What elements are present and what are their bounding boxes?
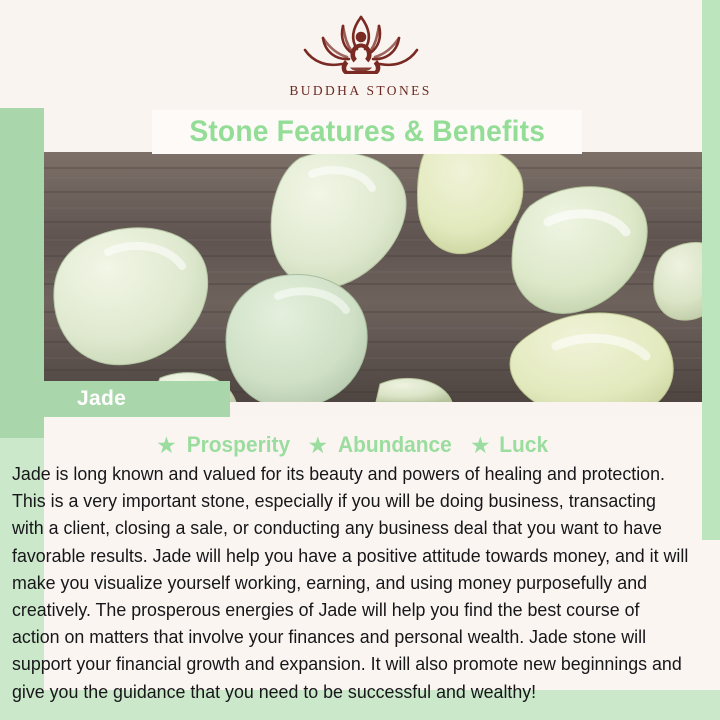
poster: BUDDHA STONES: [0, 0, 720, 720]
brand-name: BUDDHA STONES: [289, 83, 431, 99]
stone-name-label: Jade: [25, 387, 126, 411]
brand-header: BUDDHA STONES: [0, 0, 705, 108]
stone-description: Jade is long known and valued for its be…: [12, 461, 692, 706]
title-band: Stone Features & Benefits: [152, 110, 582, 154]
benefit-label: Prosperity: [186, 432, 289, 458]
benefit-item: ★ Prosperity: [156, 432, 292, 458]
star-icon: ★: [470, 434, 491, 457]
brand-logo: BUDDHA STONES: [287, 10, 435, 99]
stone-name-bar: Jade: [25, 381, 230, 417]
lotus-meditation-icon: [287, 10, 435, 82]
stone-photo: [0, 152, 720, 402]
benefit-item: ★ Abundance: [308, 432, 455, 458]
benefit-label: Abundance: [338, 432, 452, 458]
jade-stones-illustration: [0, 152, 720, 402]
benefits-row: ★ Prosperity ★ Abundance ★ Luck: [0, 430, 705, 460]
page-title: Stone Features & Benefits: [189, 115, 545, 149]
star-icon: ★: [156, 434, 177, 457]
benefit-label: Luck: [499, 432, 548, 458]
star-icon: ★: [308, 434, 329, 457]
benefit-item: ★ Luck: [470, 432, 549, 458]
